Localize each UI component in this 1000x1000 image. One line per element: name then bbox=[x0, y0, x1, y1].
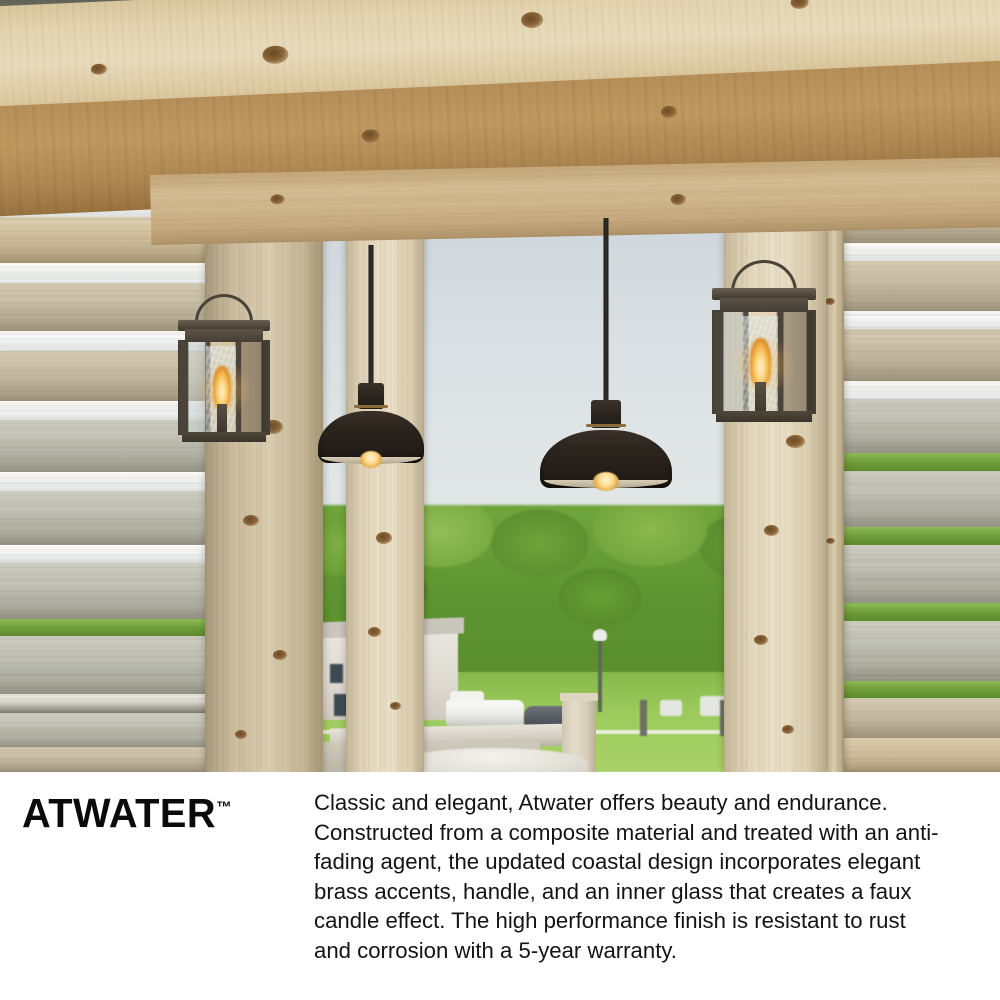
brand-name: ATWATER bbox=[22, 790, 216, 836]
lantern-base bbox=[182, 432, 267, 442]
lamp-post bbox=[598, 638, 602, 712]
lantern-body bbox=[712, 310, 816, 414]
product-description: Classic and elegant, Atwater offers beau… bbox=[314, 788, 940, 965]
trademark-symbol: ™ bbox=[216, 799, 232, 816]
lantern-body bbox=[178, 340, 270, 435]
pendant-bulb bbox=[593, 472, 619, 491]
pendant-bulb bbox=[360, 451, 382, 468]
lantern-candle bbox=[217, 404, 227, 432]
lantern-candle bbox=[755, 382, 766, 412]
pendant-stem bbox=[369, 245, 374, 387]
lantern-candle-flame bbox=[750, 338, 771, 388]
pendant-brass-ring bbox=[586, 424, 626, 427]
distant-object bbox=[660, 700, 682, 716]
louver-wall-right bbox=[832, 178, 1000, 772]
pendant-brass-ring bbox=[354, 405, 388, 408]
foreground-stone bbox=[398, 748, 588, 772]
lantern-base bbox=[716, 411, 812, 422]
pendant-stem bbox=[604, 218, 609, 404]
house-window bbox=[330, 664, 343, 683]
left-lantern bbox=[178, 296, 270, 446]
caption-panel: ATWATER™ Classic and elegant, Atwater of… bbox=[0, 772, 1000, 1000]
right-lantern bbox=[712, 264, 816, 428]
left-pendant bbox=[318, 245, 424, 475]
lantern-handle-icon bbox=[195, 294, 253, 322]
center-pendant bbox=[540, 218, 672, 480]
fence-post bbox=[640, 700, 647, 736]
louver-wall-left bbox=[0, 195, 215, 772]
brand-wordmark: ATWATER™ bbox=[22, 793, 232, 834]
pickup-truck bbox=[446, 700, 524, 726]
product-lifestyle-photo bbox=[0, 0, 1000, 772]
